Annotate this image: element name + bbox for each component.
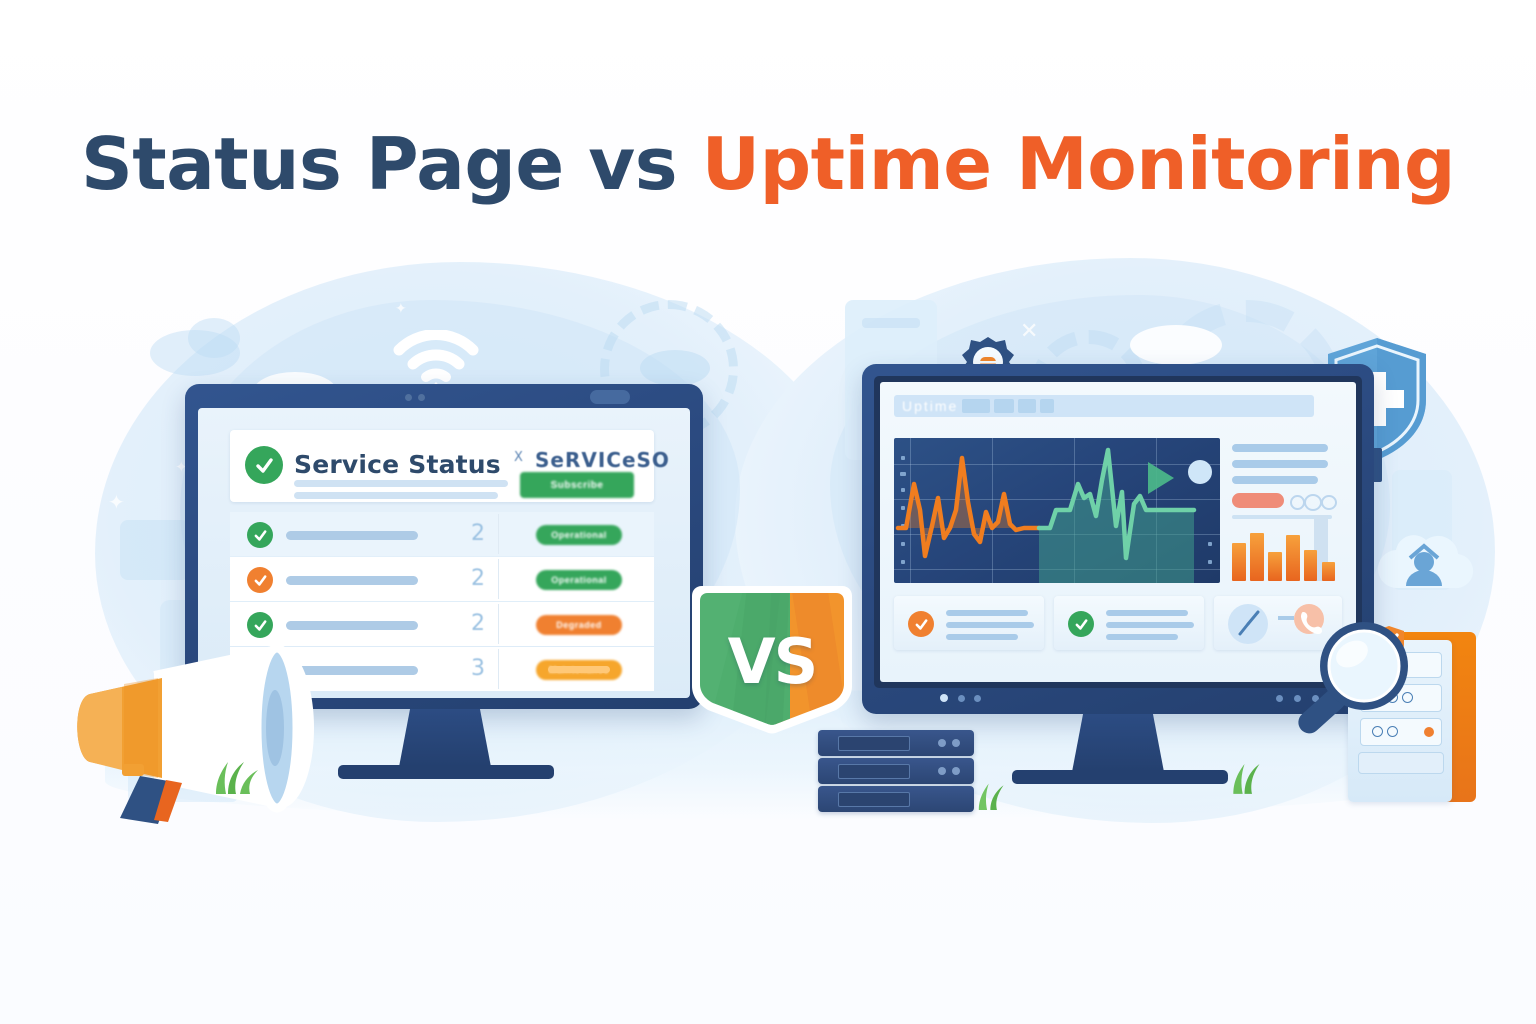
status-check-icon — [908, 611, 934, 637]
chart-svg — [894, 438, 1220, 583]
status-badge: Operational — [536, 570, 622, 590]
title-part-orange: Uptime Monitoring — [702, 122, 1455, 206]
row-number: 2 — [471, 521, 485, 546]
bar — [1322, 562, 1335, 581]
vs-badge: VS — [686, 578, 858, 738]
row-number: 2 — [471, 611, 485, 636]
toolbar-label: Uptime — [902, 398, 958, 414]
server-bay — [838, 736, 910, 751]
monitor-stand-base-left — [338, 765, 554, 779]
page-title: Status Page vs Uptime Monitoring — [0, 122, 1536, 206]
ring-indicator — [1290, 495, 1305, 510]
webcam-dot — [405, 394, 412, 401]
sidebar-line — [1232, 444, 1328, 452]
cloud-user-icon — [1370, 528, 1478, 620]
status-check-icon — [247, 612, 273, 638]
row-divider — [498, 514, 499, 554]
sidebar-line — [1232, 460, 1328, 468]
server-led — [938, 767, 946, 775]
webcam-dot — [418, 394, 425, 401]
monitor-stand-neck-right — [1072, 714, 1164, 772]
alert-pill — [1232, 493, 1284, 508]
indicator-dot — [940, 694, 948, 702]
placeholder-line — [294, 492, 498, 499]
row-label-line — [286, 531, 418, 540]
bar — [1250, 533, 1264, 581]
toolbar-block — [1040, 399, 1054, 413]
placeholder-line — [294, 480, 508, 487]
badge-inner-bar — [548, 666, 610, 673]
row-divider — [498, 604, 499, 644]
card-line — [946, 634, 1018, 640]
toolbar-block — [962, 399, 990, 413]
status-check-icon — [247, 567, 273, 593]
server-led — [952, 739, 960, 747]
magnifier-icon — [1288, 616, 1418, 751]
sparkle-decor: ✦ — [108, 490, 125, 515]
status-check-icon-header — [245, 446, 283, 484]
rack-indicator-active — [1424, 727, 1434, 737]
sidebar-line — [1232, 476, 1318, 484]
rack-slot — [1358, 752, 1444, 774]
title-part-dark: Status Page vs — [81, 122, 702, 206]
server-led — [952, 767, 960, 775]
bar — [1232, 543, 1246, 581]
card-line — [1106, 622, 1194, 628]
bar — [1268, 552, 1282, 581]
brand-label: SeRVICeSO — [535, 448, 670, 472]
card-line — [946, 610, 1028, 616]
sparkle-decor: ✕ — [1020, 318, 1038, 344]
sparkle-decor: ✦ — [395, 300, 407, 317]
status-badge: Operational — [536, 525, 622, 545]
server-bay — [838, 792, 910, 807]
shape-decor — [862, 318, 920, 328]
monitor-stand-base-right — [1012, 770, 1228, 784]
bar — [1286, 535, 1300, 581]
row-number: 2 — [471, 566, 485, 591]
toolbar-block — [1018, 399, 1036, 413]
indicator-dot — [1276, 695, 1283, 702]
server-led — [938, 739, 946, 747]
indicator-dot — [974, 695, 981, 702]
bar — [1304, 550, 1317, 581]
illustration-canvas: Status Page vs Uptime Monitoring ✦ ✦ ✦ ✕ — [0, 0, 1536, 1024]
ring-indicator — [1304, 494, 1322, 511]
row-divider — [498, 559, 499, 599]
card-line — [946, 622, 1034, 628]
megaphone-icon — [62, 636, 332, 826]
grass-decor — [966, 782, 1018, 810]
ring-indicator — [1321, 495, 1337, 510]
card-line — [1106, 634, 1178, 640]
cloud-decor — [188, 318, 240, 358]
row-divider — [498, 649, 499, 689]
subscribe-button[interactable]: Subscribe — [520, 472, 634, 498]
gauge-icon — [1224, 602, 1280, 646]
row-number: 3 — [471, 656, 485, 681]
cloud-decor — [640, 350, 710, 386]
uptime-chart — [894, 438, 1220, 583]
grass-decor — [1224, 762, 1280, 794]
dot-marker-icon — [1188, 460, 1212, 484]
status-light — [590, 390, 630, 404]
status-check-icon — [1068, 611, 1094, 637]
card-line — [1106, 610, 1188, 616]
cloud-decor — [1130, 325, 1222, 365]
play-marker-icon — [1148, 462, 1174, 494]
status-check-icon — [247, 522, 273, 548]
shape-decor — [120, 520, 190, 580]
status-badge: Degraded — [536, 615, 622, 635]
screen-right: Uptime — [880, 382, 1356, 682]
vs-label: VS — [686, 578, 858, 738]
monitor-stand-neck-left — [399, 709, 491, 767]
row-label-line — [286, 621, 418, 630]
status-page-title: Service Status — [294, 450, 501, 479]
x-mark-label: X — [514, 450, 524, 465]
server-bay — [838, 764, 910, 779]
grass-decor — [206, 760, 266, 794]
toolbar-block — [994, 399, 1014, 413]
row-label-line — [286, 576, 418, 585]
indicator-dot — [958, 695, 965, 702]
